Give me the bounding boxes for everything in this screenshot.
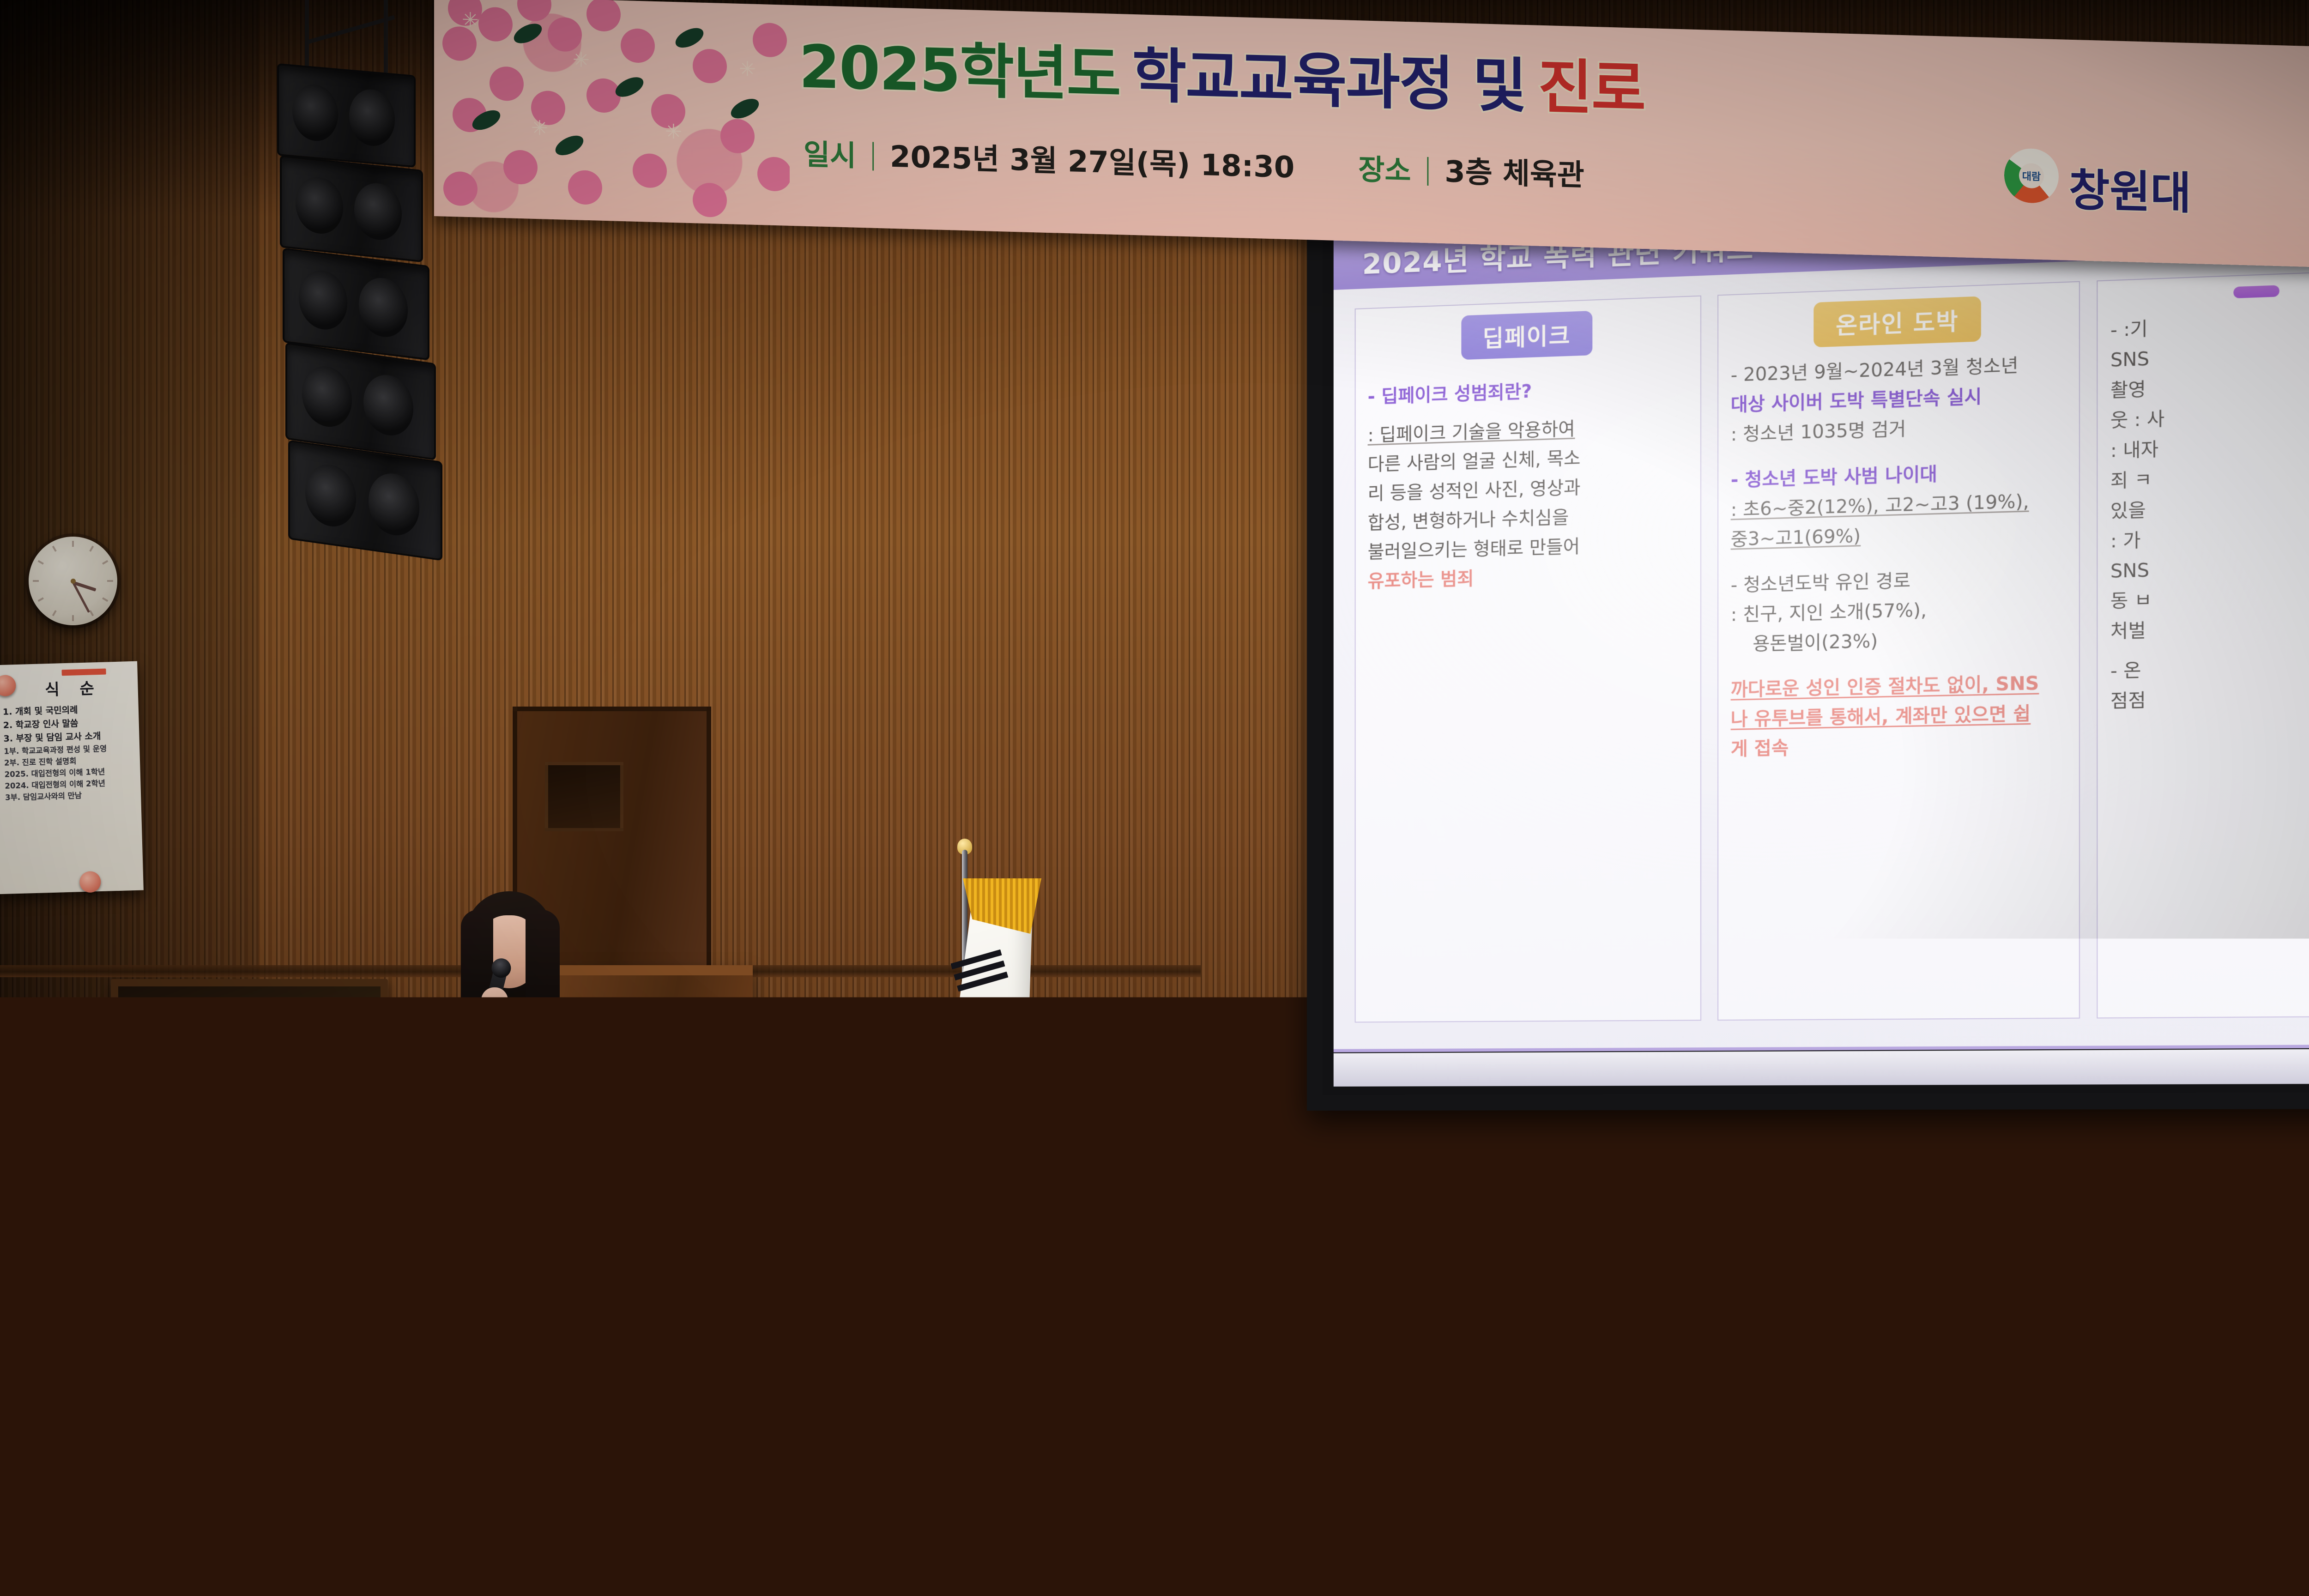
slide-line: 나 유투브를 통해서, 계좌만 있으면 쉽 bbox=[1731, 703, 2031, 730]
speaker-cabinet bbox=[277, 63, 416, 168]
speaker-cabinet bbox=[280, 155, 423, 263]
slide-line: 죄 ㅋ bbox=[2110, 459, 2309, 495]
column-pill-label bbox=[2234, 285, 2279, 298]
banner-place-value: 3층 체육관 bbox=[1445, 148, 1584, 194]
slide-line: : 딥페이크 기술을 악용하여 bbox=[1368, 418, 1575, 446]
audience-rows bbox=[0, 1245, 2309, 1596]
program-heading: 식 순 bbox=[14, 675, 133, 701]
auditorium-photo-scene: 식 순 1. 개회 및 국민의례 2. 학교장 인사 말씀 3. 부장 및 담임… bbox=[0, 0, 2309, 1596]
presentation-slide: 2024년 학교 폭력 관련 키워드 딥페이크 - 딥페이크 성범죄란? : 딥… bbox=[1334, 191, 2309, 1051]
poster-accent-bar bbox=[61, 669, 106, 676]
stage-window bbox=[111, 979, 388, 1136]
hair-bow bbox=[51, 1333, 129, 1375]
school-emblem bbox=[598, 1084, 677, 1144]
slide-line: 합성, 변형하거나 수치심을 bbox=[1368, 501, 1688, 537]
banner-date-value: 2025년 3월 27일(목) 18:30 bbox=[890, 133, 1294, 187]
slide-line: 까다로운 성인 인증 절차도 없이, SNS bbox=[1731, 673, 2039, 701]
slide-column-online-gambling: 온라인 도박 - 2023년 9월~2024년 3월 청소년 대상 사이버 도박… bbox=[1717, 281, 2080, 1021]
slide-line: 유포하는 범죄 bbox=[1368, 560, 1688, 595]
chair-frame bbox=[2129, 1457, 2136, 1582]
slide-line: : 내자 bbox=[2110, 429, 2309, 465]
slide-line: 게 접속 bbox=[1731, 730, 2066, 763]
chair-frame bbox=[1058, 1462, 1065, 1582]
column-pill-label: 딥페이크 bbox=[1461, 311, 1592, 360]
banner-floral-pattern: ✳ ✳ ✳ ✳ ✳ bbox=[434, 0, 790, 226]
slide-column-deepfake: 딥페이크 - 딥페이크 성범죄란? : 딥페이크 기술을 악용하여 다른 사람의… bbox=[1355, 296, 1701, 1023]
window-sill bbox=[103, 1131, 398, 1147]
slide-line: 용돈벌이(23%) bbox=[1731, 624, 2066, 659]
slide-line: 있을 bbox=[2110, 490, 2309, 525]
banner-place-label: 장소 bbox=[1358, 146, 1411, 189]
slide-line: 처벌 bbox=[2110, 612, 2309, 646]
poster-pin-icon bbox=[79, 871, 101, 893]
slide-column-third-cutoff: - :기 SNS 촬영 웃 : 사 : 내자 죄 ㅋ 있을 : 가 SNS 동 … bbox=[2097, 268, 2309, 1019]
slide-line: 불러일으키는 형태로 만들어 bbox=[1368, 531, 1688, 566]
slide-line: SNS bbox=[2110, 550, 2309, 585]
chair-frame bbox=[4, 1448, 11, 1587]
banner-separator: | bbox=[1423, 151, 1433, 186]
projection-screen: 2024년 학교 폭력 관련 키워드 딥페이크 - 딥페이크 성범죄란? : 딥… bbox=[1307, 164, 2309, 1111]
speaker-cabinet bbox=[288, 440, 442, 561]
slide-line: : 친구, 지인 소개(57%), bbox=[1731, 594, 2066, 629]
program-notice-poster: 식 순 1. 개회 및 국민의례 2. 학교장 인사 말씀 3. 부장 및 담임… bbox=[0, 661, 144, 895]
banner-subject: 학교교육과정 및 bbox=[1132, 27, 1526, 123]
slide-line: : 가 bbox=[2110, 520, 2309, 555]
slide-line: 중3~고1(69%) bbox=[1731, 526, 1861, 550]
logo-inner-text: 대람 bbox=[2019, 163, 2044, 188]
banner-separator: | bbox=[868, 137, 878, 171]
speaker-cabinet bbox=[283, 248, 429, 360]
slide-line: 점점 bbox=[2110, 683, 2309, 716]
audience-head bbox=[2286, 1310, 2309, 1471]
wall-clock bbox=[29, 537, 117, 625]
column-pill-label: 온라인 도박 bbox=[1813, 296, 1981, 347]
organization-name: 창원대 bbox=[2069, 154, 2191, 222]
slide-line: : 초6~중2(12%), 고2~고3 (19%), bbox=[1731, 491, 2029, 520]
banner-highlight: 진로 bbox=[1538, 38, 1645, 127]
banner-year: 2025학년도 bbox=[799, 18, 1120, 113]
banner-date-label: 일시 bbox=[804, 131, 856, 174]
slide-line: 동 ㅂ bbox=[2110, 581, 2309, 616]
screen-lower-band bbox=[1334, 1049, 2309, 1087]
